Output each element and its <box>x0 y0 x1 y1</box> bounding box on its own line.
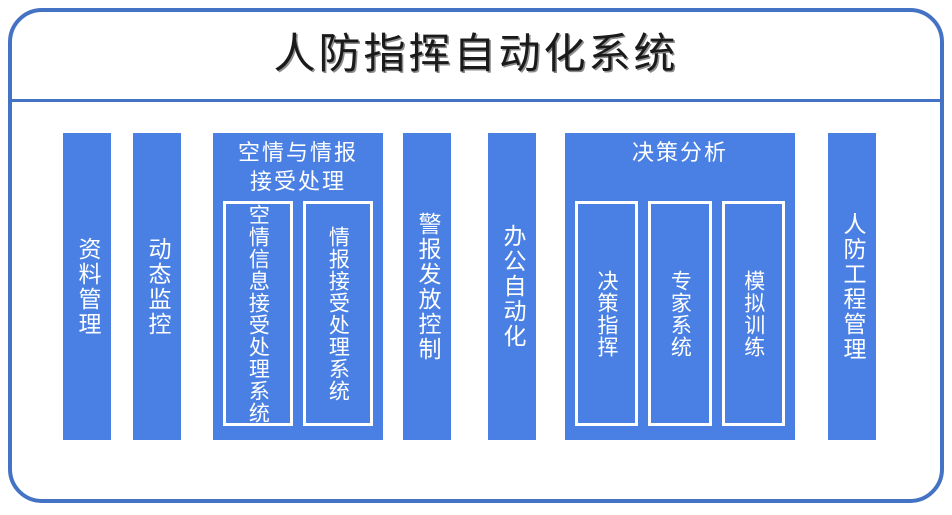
submodule-label: 专家系统 <box>668 270 693 358</box>
submodule-label: 情报接受处理系统 <box>326 226 351 402</box>
group-header-line-1: 决策分析 <box>565 139 795 168</box>
module-label: 资料管理 <box>73 237 101 337</box>
title-divider <box>10 99 942 102</box>
module-label: 办公自动化 <box>498 224 526 349</box>
module-group-air-situation-intel[interactable]: 空情与情报 接受处理 空情信息接受处理系统 情报接受处理系统 <box>213 133 383 440</box>
submodule-intel-receive-process-system[interactable]: 情报接受处理系统 <box>303 201 373 426</box>
module-civil-defense-project-management[interactable]: 人防工程管理 <box>828 133 876 440</box>
module-label: 人防工程管理 <box>838 212 866 362</box>
group-children: 决策指挥 专家系统 模拟训练 <box>575 201 785 426</box>
module-data-management[interactable]: 资料管理 <box>63 133 111 440</box>
submodule-air-situation-info-system[interactable]: 空情信息接受处理系统 <box>223 201 293 426</box>
module-alarm-release-control[interactable]: 警报发放控制 <box>403 133 451 440</box>
group-header: 空情与情报 接受处理 <box>213 139 383 197</box>
submodule-label: 决策指挥 <box>594 270 619 358</box>
submodule-simulation-training[interactable]: 模拟训练 <box>722 201 785 426</box>
module-label: 动态监控 <box>143 237 171 337</box>
submodule-label: 空情信息接受处理系统 <box>246 204 271 424</box>
module-office-automation[interactable]: 办公自动化 <box>488 133 536 440</box>
submodule-decision-command[interactable]: 决策指挥 <box>575 201 638 426</box>
submodule-label: 模拟训练 <box>741 270 766 358</box>
group-header: 决策分析 <box>565 139 795 168</box>
modules-area: 资料管理 动态监控 空情与情报 接受处理 空情信息接受处理系统 情报接受处理系统 <box>8 103 944 503</box>
group-children: 空情信息接受处理系统 情报接受处理系统 <box>223 201 373 426</box>
diagram-canvas: 人防指挥自动化系统 资料管理 动态监控 空情与情报 接受处理 空情信息接受处理系… <box>0 0 952 515</box>
submodule-expert-system[interactable]: 专家系统 <box>648 201 711 426</box>
module-dynamic-monitoring[interactable]: 动态监控 <box>133 133 181 440</box>
group-header-line-2: 接受处理 <box>213 168 383 197</box>
module-label: 警报发放控制 <box>413 212 441 362</box>
module-group-decision-analysis[interactable]: 决策分析 决策指挥 专家系统 模拟训练 <box>565 133 795 440</box>
group-header-line-1: 空情与情报 <box>213 139 383 168</box>
